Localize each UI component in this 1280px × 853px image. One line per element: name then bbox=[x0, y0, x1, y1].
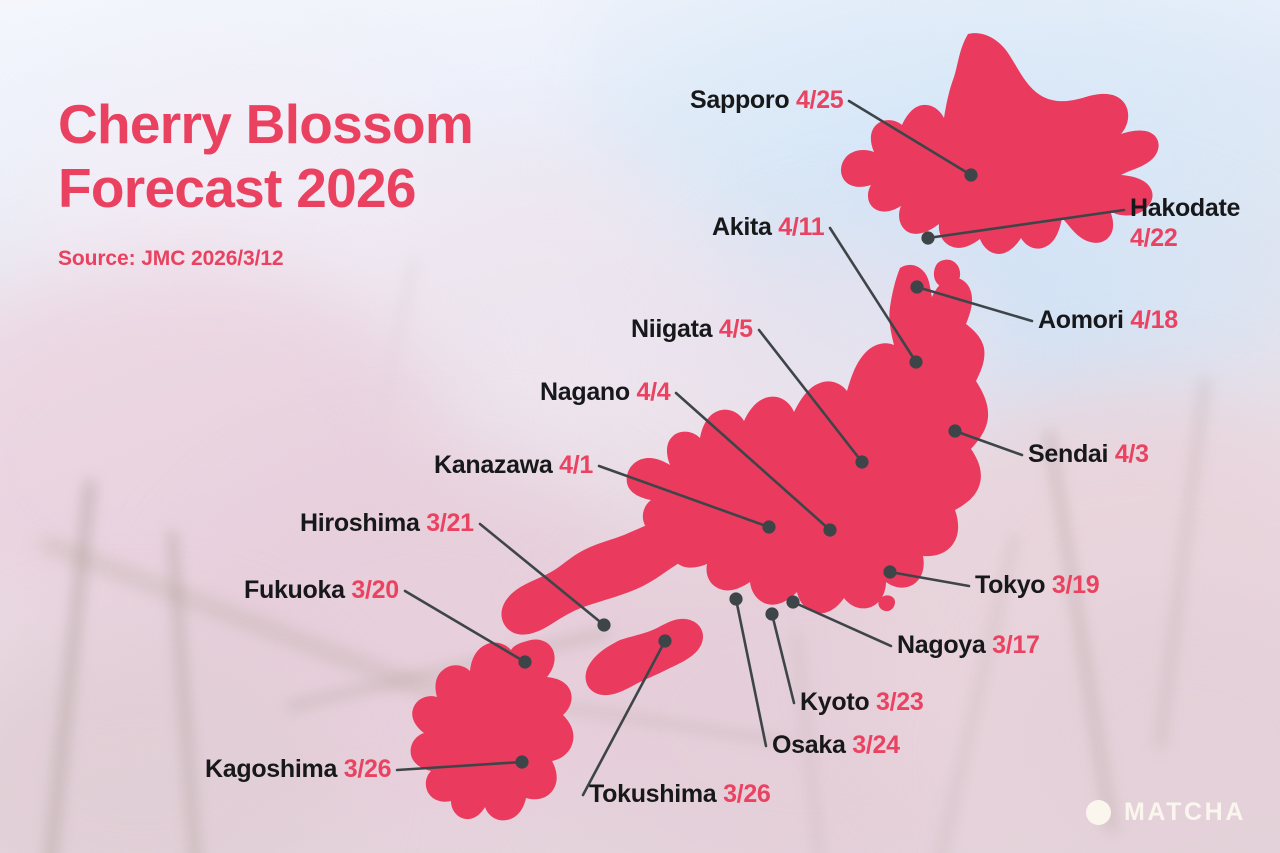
city-name: Sendai bbox=[1028, 440, 1108, 468]
city-label-hiroshima: Hiroshima 3/21 bbox=[300, 509, 474, 539]
marker-dot-kyoto bbox=[765, 607, 778, 620]
marker-dot-niigata bbox=[855, 455, 868, 468]
marker-dot-tokyo bbox=[883, 565, 896, 578]
city-label-akita: Akita 4/11 bbox=[712, 213, 824, 243]
city-label-fukuoka: Fukuoka 3/20 bbox=[244, 576, 399, 606]
city-name: Kagoshima bbox=[205, 755, 337, 783]
city-label-sendai: Sendai 4/3 bbox=[1028, 440, 1149, 470]
marker-dot-hakodate bbox=[921, 231, 934, 244]
city-name: Fukuoka bbox=[244, 576, 345, 604]
bloom-date: 3/19 bbox=[1052, 571, 1099, 599]
city-name: Hakodate bbox=[1130, 194, 1240, 222]
bloom-date: 3/20 bbox=[351, 576, 398, 604]
bloom-date: 4/4 bbox=[637, 378, 671, 406]
marker-dot-kanazawa bbox=[762, 520, 775, 533]
bloom-date: 3/17 bbox=[992, 631, 1039, 659]
city-name: Niigata bbox=[631, 315, 712, 343]
bloom-date: 4/5 bbox=[719, 315, 753, 343]
bloom-date: 3/26 bbox=[723, 780, 770, 808]
marker-dot-osaka bbox=[729, 592, 742, 605]
bloom-date: 3/24 bbox=[852, 731, 899, 759]
city-label-sapporo: Sapporo 4/25 bbox=[690, 86, 843, 116]
bloom-date: 3/21 bbox=[426, 509, 473, 537]
marker-dot-aomori bbox=[910, 280, 923, 293]
marker-dot-tokushima bbox=[658, 634, 671, 647]
bloom-date: 4/18 bbox=[1130, 306, 1177, 334]
city-name: Hiroshima bbox=[300, 509, 420, 537]
marker-dot-hiroshima bbox=[597, 618, 610, 631]
leader-line-kyoto bbox=[772, 614, 794, 703]
marker-dot-sapporo bbox=[964, 168, 977, 181]
watermark-label: MATCHA bbox=[1124, 798, 1246, 827]
city-label-nagano: Nagano 4/4 bbox=[540, 378, 670, 408]
marker-dot-kagoshima bbox=[515, 755, 528, 768]
marker-dot-nagano bbox=[823, 523, 836, 536]
bloom-date: 4/25 bbox=[796, 86, 843, 114]
city-name: Sapporo bbox=[690, 86, 789, 114]
japan-landmass bbox=[411, 33, 1159, 820]
bloom-date: 4/11 bbox=[778, 213, 824, 241]
bloom-date: 3/26 bbox=[344, 755, 391, 783]
circle-icon bbox=[1086, 800, 1111, 825]
leader-line-nagoya bbox=[793, 602, 891, 646]
city-name: Kyoto bbox=[800, 688, 869, 716]
city-label-kyoto: Kyoto 3/23 bbox=[800, 688, 923, 718]
chugoku-region-shape bbox=[501, 502, 739, 634]
hokkaido-shape bbox=[841, 33, 1159, 254]
city-label-nagoya: Nagoya 3/17 bbox=[897, 631, 1040, 661]
page-title-line-2: Forecast 2026 bbox=[58, 156, 473, 220]
bloom-date: 4/1 bbox=[559, 451, 593, 479]
city-label-osaka: Osaka 3/24 bbox=[772, 731, 900, 761]
source-credit: Source: JMC 2026/3/12 bbox=[58, 247, 473, 271]
bloom-date: 4/3 bbox=[1115, 440, 1149, 468]
city-name: Tokyo bbox=[975, 571, 1045, 599]
city-label-tokushima: Tokushima 3/26 bbox=[589, 780, 771, 810]
bloom-date: 3/23 bbox=[876, 688, 923, 716]
city-name: Nagoya bbox=[897, 631, 986, 659]
leader-line-osaka bbox=[736, 599, 766, 746]
city-label-kanazawa: Kanazawa 4/1 bbox=[434, 451, 593, 481]
city-label-hakodate: Hakodate4/22 bbox=[1130, 194, 1240, 253]
city-name: Aomori bbox=[1038, 306, 1124, 334]
city-name: Kanazawa bbox=[434, 451, 553, 479]
city-label-tokyo: Tokyo 3/19 bbox=[975, 571, 1099, 601]
city-name: Osaka bbox=[772, 731, 846, 759]
city-name: Tokushima bbox=[589, 780, 716, 808]
city-name: Akita bbox=[712, 213, 772, 241]
marker-dot-nagoya bbox=[786, 595, 799, 608]
city-label-aomori: Aomori 4/18 bbox=[1038, 306, 1178, 336]
marker-dot-akita bbox=[909, 355, 922, 368]
marker-dot-sendai bbox=[948, 424, 961, 437]
page-title-line-1: Cherry Blossom bbox=[58, 92, 473, 156]
matcha-watermark: MATCHA bbox=[1086, 798, 1246, 827]
city-name: Nagano bbox=[540, 378, 630, 406]
kyushu-shape bbox=[411, 639, 574, 820]
headline-block: Cherry Blossom Forecast 2026 Source: JMC… bbox=[58, 92, 473, 271]
city-label-niigata: Niigata 4/5 bbox=[631, 315, 753, 345]
bloom-date: 4/22 bbox=[1130, 224, 1177, 252]
city-label-kagoshima: Kagoshima 3/26 bbox=[205, 755, 391, 785]
marker-dot-fukuoka bbox=[518, 655, 531, 668]
